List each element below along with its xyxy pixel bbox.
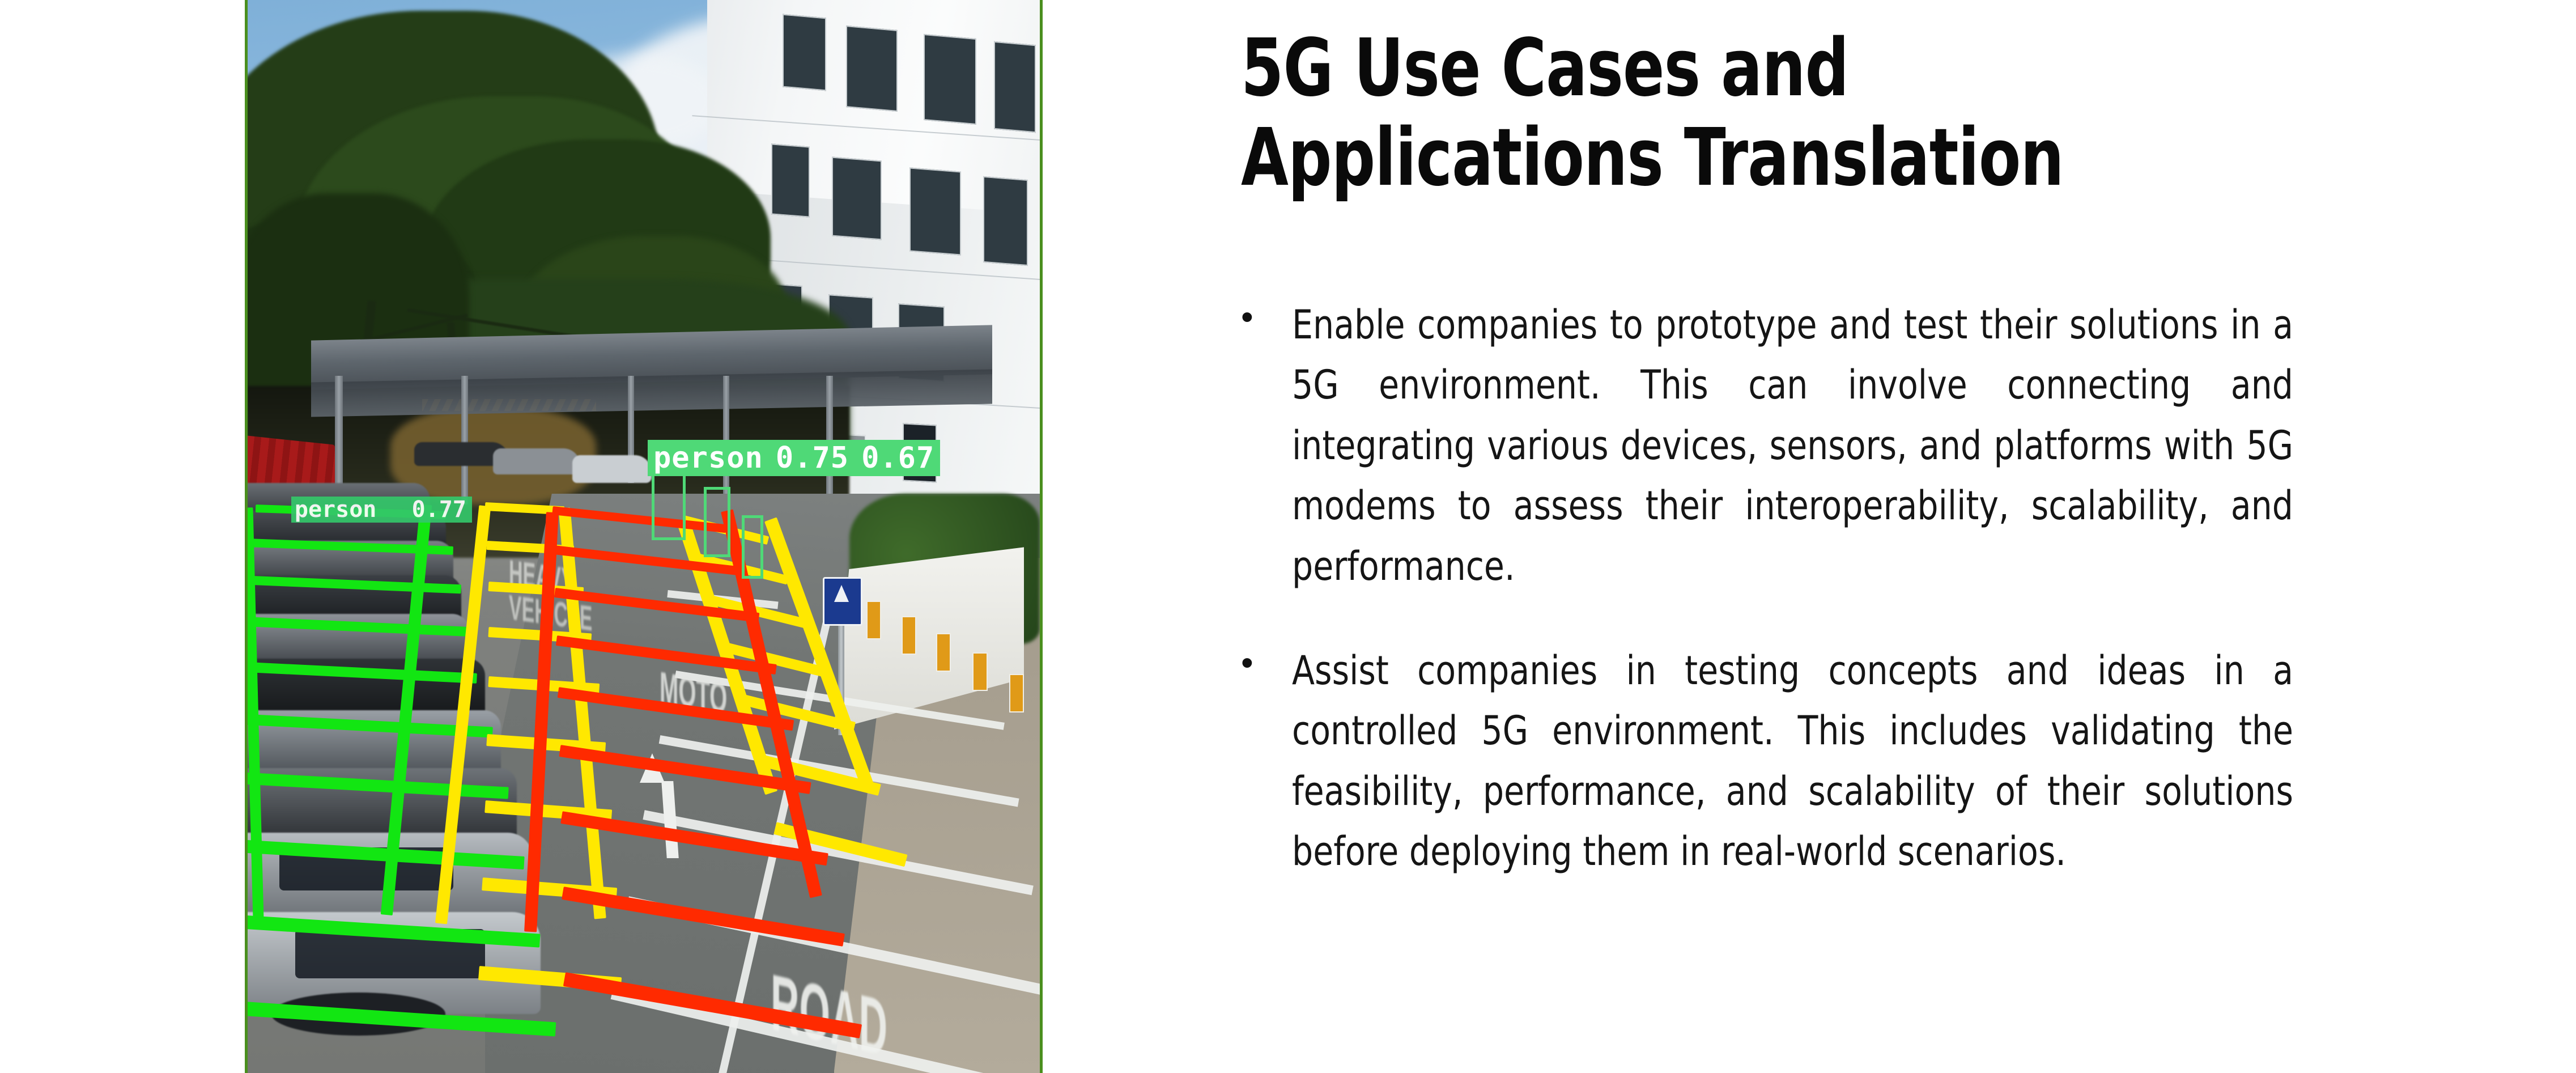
parking-space-overlay-occupied [248, 575, 461, 593]
parking-space-occupied [248, 661, 477, 684]
bullet-text: Assist companies in testing concepts and… [1292, 641, 2293, 882]
parking-column-boundary [559, 507, 606, 919]
detection-label-person-occluded: person 0.77 [291, 497, 473, 522]
detection-label-person: person 0.75 0.67 [648, 440, 940, 476]
detection-class-label: person [653, 441, 763, 475]
bullet-marker-icon: • [1241, 295, 1292, 335]
photo-canvas: HEAVY VEHICLE MOTO ROAD [248, 0, 1040, 1073]
parking-row-boundary-free-left [525, 512, 559, 932]
cv-overlay-layer: person 0.75 0.67 person 0.77 [248, 0, 1040, 1073]
annotated-parking-lot-image: HEAVY VEHICLE MOTO ROAD [245, 0, 1043, 1073]
list-item: • Enable companies to prototype and test… [1241, 295, 2369, 596]
bullet-list: • Enable companies to prototype and test… [1241, 295, 2369, 926]
parking-space-overlay-occupied [248, 912, 541, 947]
slide-title: 5G Use Cases and Applications Translatio… [1241, 24, 2221, 203]
detection-score-primary: 0.75 [776, 441, 849, 475]
bullet-marker-icon: • [1241, 641, 1292, 681]
bullet-text: Enable companies to prototype and test t… [1292, 295, 2293, 596]
parking-space-overlay-occupied [248, 770, 509, 799]
parking-space-overlay-free [563, 972, 862, 1038]
detection-score-secondary: 0.67 [861, 441, 934, 475]
list-item: • Assist companies in testing concepts a… [1241, 641, 2369, 882]
parking-row-boundary-outer [248, 507, 263, 919]
presentation-slide: HEAVY VEHICLE MOTO ROAD [0, 0, 2576, 1073]
detection-box-person [742, 515, 763, 579]
detection-score-primary: 0.77 [412, 497, 466, 522]
detection-class-label: person [295, 497, 377, 522]
parking-space-overlay-occupied [248, 616, 469, 637]
slide-content-column: 5G Use Cases and Applications Translatio… [1241, 0, 2476, 1073]
parking-space-overlay-occupied [248, 998, 556, 1037]
detection-box-person [704, 487, 730, 557]
